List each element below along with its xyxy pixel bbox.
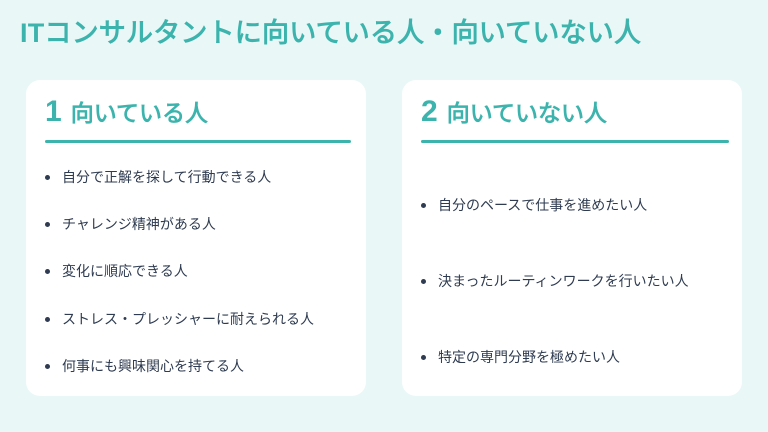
card-not-suited: 2 向いていない人 自分のペースで仕事を進めたい人 決まったルーティンワークを行… xyxy=(402,80,742,396)
card-title: 向いていない人 xyxy=(447,102,607,125)
bullet-dot-icon xyxy=(45,175,50,180)
card-header: 2 向いていない人 xyxy=(421,97,726,127)
list-item: 自分で正解を探して行動できる人 xyxy=(45,168,352,186)
card-number: 2 xyxy=(421,97,438,127)
card-title: 向いている人 xyxy=(71,102,208,125)
bullet-list-suited: 自分で正解を探して行動できる人 チャレンジ精神がある人 変化に順応できる人 スト… xyxy=(45,168,352,375)
list-item-label: 自分で正解を探して行動できる人 xyxy=(62,168,352,186)
list-item-label: 変化に順応できる人 xyxy=(62,262,352,280)
bullet-dot-icon xyxy=(45,269,50,274)
bullet-dot-icon xyxy=(421,203,426,208)
bullet-dot-icon xyxy=(421,355,426,360)
bullet-dot-icon xyxy=(45,222,50,227)
list-item: 自分のペースで仕事を進めたい人 xyxy=(421,196,728,214)
list-item-label: 何事にも興味関心を持てる人 xyxy=(62,357,352,375)
card-divider xyxy=(45,140,351,143)
bullet-list-not-suited: 自分のペースで仕事を進めたい人 決まったルーティンワークを行いたい人 特定の専門… xyxy=(421,196,728,367)
card-divider xyxy=(421,140,729,143)
bullet-dot-icon xyxy=(45,317,50,322)
list-item-label: 決まったルーティンワークを行いたい人 xyxy=(438,272,728,290)
page-title: ITコンサルタントに向いている人・向いていない人 xyxy=(20,17,641,51)
bullet-dot-icon xyxy=(421,279,426,284)
list-item: ストレス・プレッシャーに耐えられる人 xyxy=(45,310,352,328)
card-header: 1 向いている人 xyxy=(45,97,350,127)
list-item: 変化に順応できる人 xyxy=(45,262,352,280)
list-item: 特定の専門分野を極めたい人 xyxy=(421,348,728,366)
card-suited: 1 向いている人 自分で正解を探して行動できる人 チャレンジ精神がある人 変化に… xyxy=(26,80,366,396)
list-item: 決まったルーティンワークを行いたい人 xyxy=(421,272,728,290)
list-item: 何事にも興味関心を持てる人 xyxy=(45,357,352,375)
list-item-label: 自分のペースで仕事を進めたい人 xyxy=(438,196,728,214)
list-item-label: 特定の専門分野を極めたい人 xyxy=(438,348,728,366)
bullet-dot-icon xyxy=(45,364,50,369)
slide-root: ITコンサルタントに向いている人・向いていない人 1 向いている人 自分で正解を… xyxy=(0,0,768,432)
card-container: 1 向いている人 自分で正解を探して行動できる人 チャレンジ精神がある人 変化に… xyxy=(26,80,742,396)
card-number: 1 xyxy=(45,97,62,127)
list-item: チャレンジ精神がある人 xyxy=(45,215,352,233)
list-item-label: チャレンジ精神がある人 xyxy=(62,215,352,233)
list-item-label: ストレス・プレッシャーに耐えられる人 xyxy=(62,310,352,328)
